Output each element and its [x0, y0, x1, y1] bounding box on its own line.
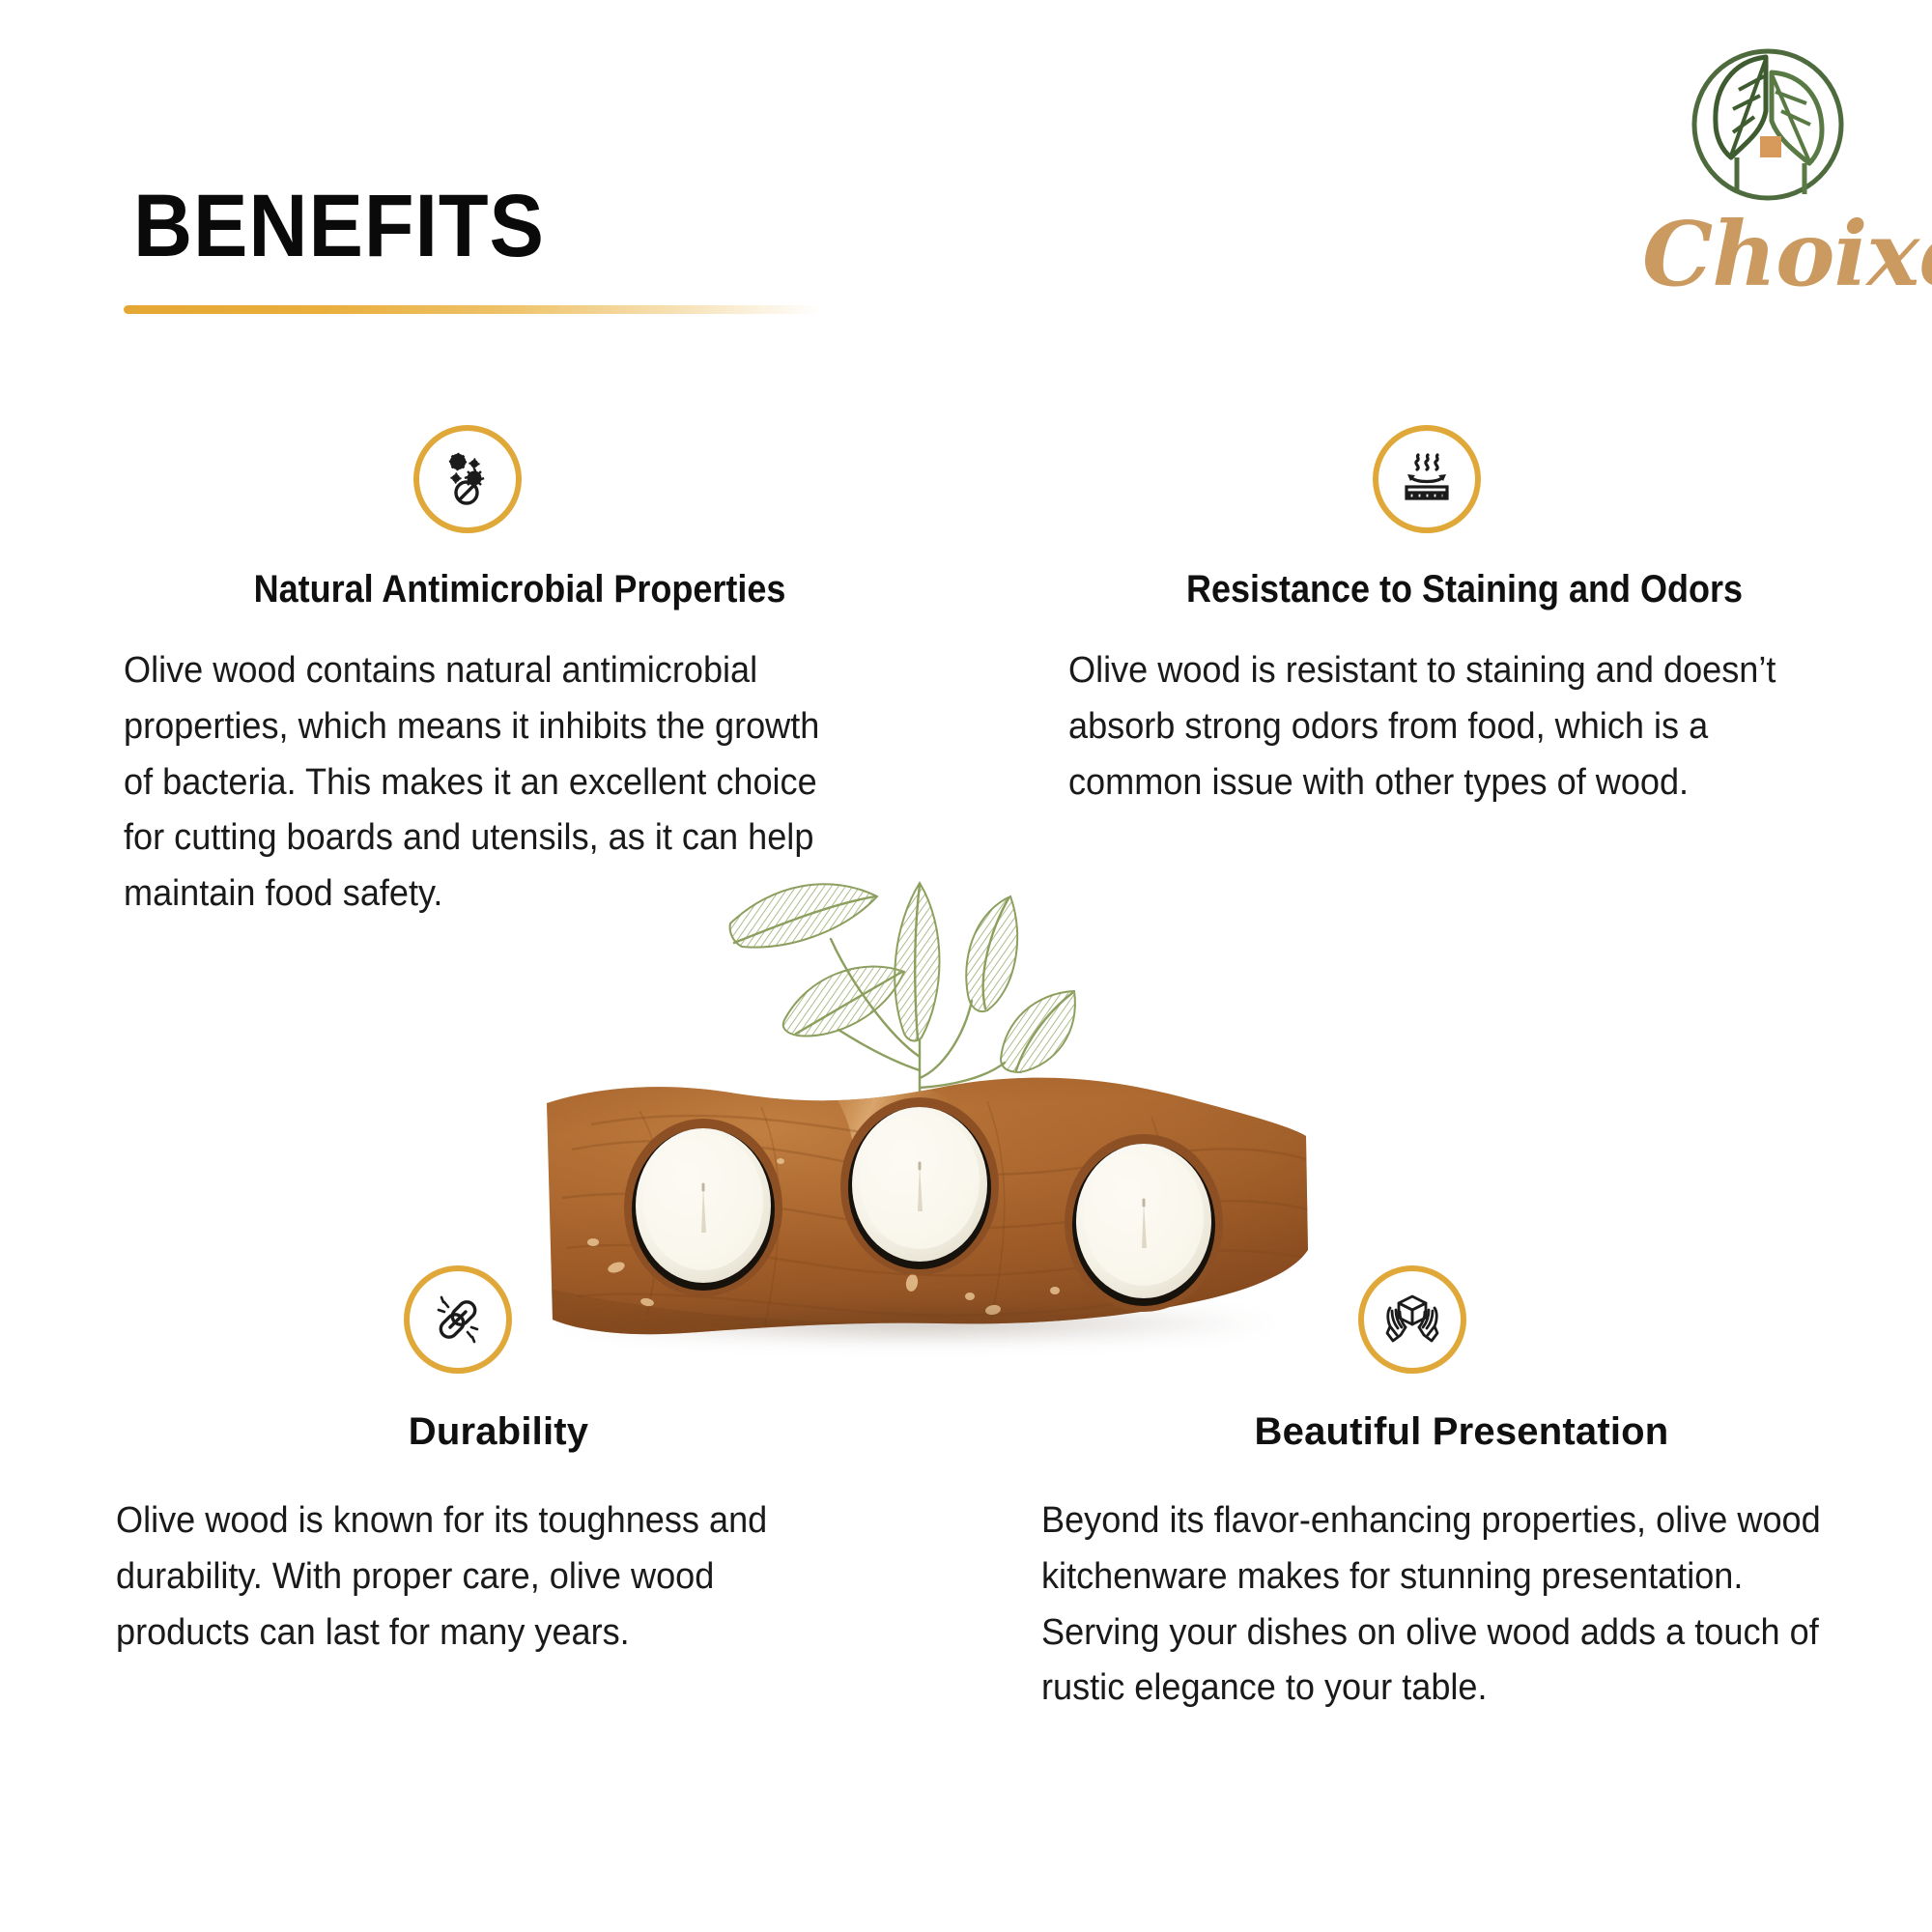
benefit-body: Olive wood is resistant to staining and … [1068, 643, 1831, 810]
chain-link-icon [404, 1265, 512, 1374]
benefit-body: Olive wood is known for its toughness an… [116, 1493, 832, 1661]
germ-prohibited-icon [413, 425, 522, 533]
benefit-card-natural-antimicrobial-properties: Natural Antimicrobial Properties Olive w… [124, 425, 916, 923]
benefit-heading: Durability [116, 1410, 889, 1453]
brand-logo: Choixe [1642, 43, 1893, 333]
brand-wordmark: Choixe [1642, 210, 1893, 298]
page-title: BENEFITS [133, 182, 545, 270]
benefits-infographic-page: BENEFITS [0, 0, 1932, 1932]
benefit-heading: Resistance to Staining and Odors [1099, 568, 1830, 611]
benefit-card-durability: Durability Olive wood is known for its t… [116, 1265, 889, 1661]
benefit-heading: Beautiful Presentation [1041, 1410, 1882, 1453]
hands-holding-cube-icon [1358, 1265, 1466, 1374]
odor-steam-surface-icon [1373, 425, 1481, 533]
benefit-heading: Natural Antimicrobial Properties [163, 568, 876, 611]
benefit-body: Beyond its flavor-enhancing properties, … [1041, 1493, 1831, 1717]
benefit-card-resistance-to-staining-and-odors: Resistance to Staining and Odors Olive w… [1059, 425, 1870, 810]
title-underline-rule [124, 305, 821, 314]
leaf-circle-logo-icon [1687, 43, 1849, 206]
benefit-card-beautiful-presentation: Beautiful Presentation Beyond its flavor… [1041, 1265, 1882, 1717]
